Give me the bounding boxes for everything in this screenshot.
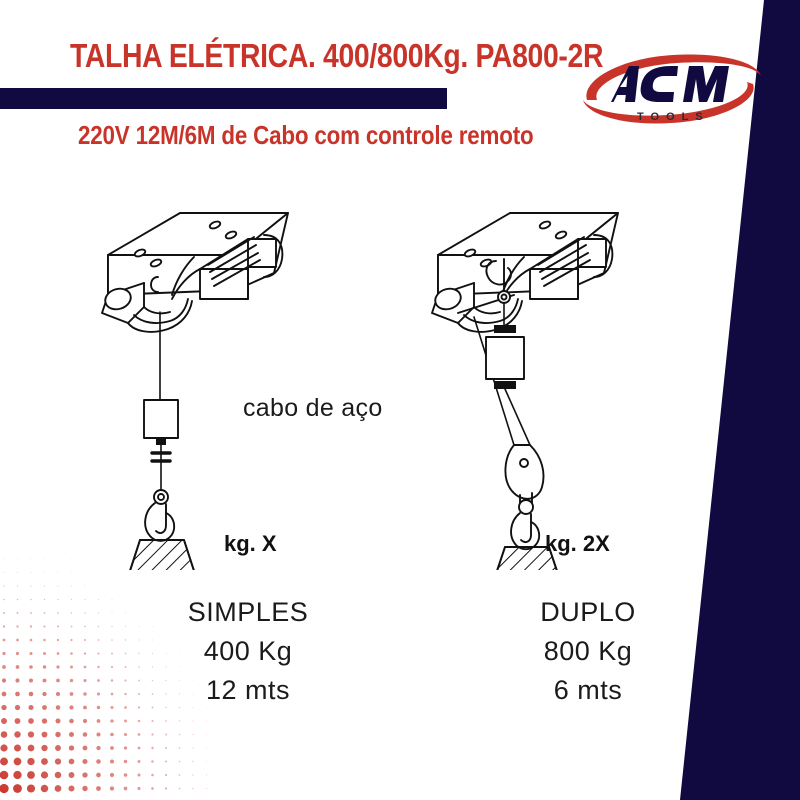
page-subtitle: 220V 12M/6M de Cabo com controle remoto: [78, 120, 534, 151]
limit-stop-block-simples: [144, 400, 178, 445]
hook-simples: [145, 490, 174, 541]
hoist-body-duplo: [432, 213, 618, 332]
product-infographic: TALHA ELÉTRICA. 400/800Kg. PA800-2R 220V…: [0, 0, 800, 800]
spec-column-duplo: DUPLO 800 Kg 6 mts: [468, 593, 708, 710]
load-label-duplo: kg. 2X: [545, 531, 610, 557]
spec-capacity: 800 Kg: [468, 632, 708, 671]
acm-tools-logo: TOOLS: [575, 40, 765, 132]
spec-capacity: 400 Kg: [128, 632, 368, 671]
hook-duplo: [511, 500, 539, 549]
spec-mode-name: DUPLO: [468, 593, 708, 632]
hoist-body-simples: [102, 213, 288, 332]
diagram-duplo: [418, 195, 718, 570]
spec-length: 12 mts: [128, 671, 368, 710]
logo-tagline: TOOLS: [637, 111, 710, 123]
cable-annotation-label: cabo de aço: [243, 394, 383, 423]
load-weight-simples: [128, 540, 196, 570]
logo-wordmark: [611, 66, 729, 102]
limit-stop-block-duplo: [486, 325, 524, 389]
spec-length: 6 mts: [468, 671, 708, 710]
page-title: TALHA ELÉTRICA. 400/800Kg. PA800-2R: [70, 37, 603, 75]
spec-column-simples: SIMPLES 400 Kg 12 mts: [128, 593, 368, 710]
diagram-simples: [88, 195, 388, 570]
pulley-block-duplo: [505, 445, 543, 507]
header-accent-bar: [0, 88, 447, 109]
spec-mode-name: SIMPLES: [128, 593, 368, 632]
load-label-simples: kg. X: [224, 531, 277, 557]
